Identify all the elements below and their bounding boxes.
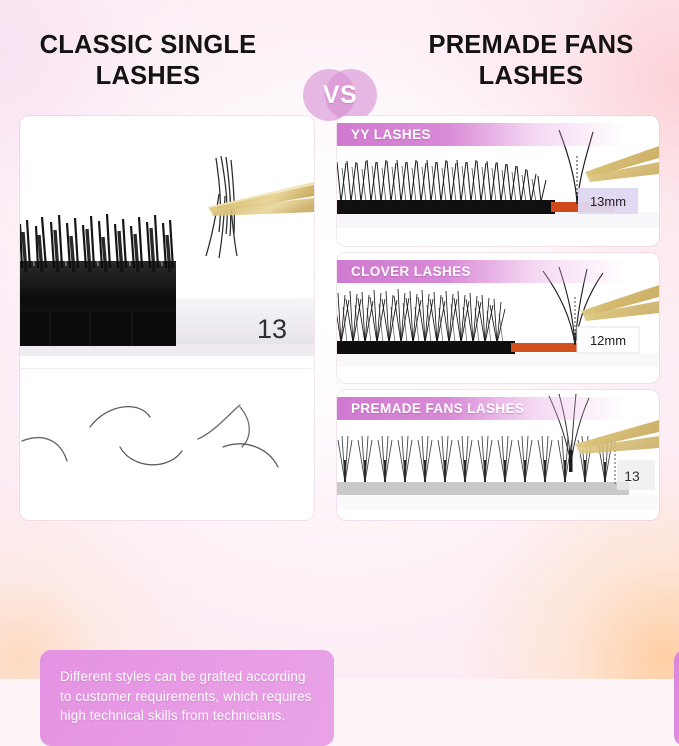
premade-size-badge: 13 xyxy=(617,460,655,490)
clover-lashes-label: CLOVER LASHES xyxy=(337,260,627,283)
vs-badge: VS xyxy=(303,69,377,121)
left-panel-title: CLASSIC SINGLE LASHES xyxy=(14,30,282,92)
right-panel-title: PREMADE FANS LASHES xyxy=(397,30,665,92)
premade-fans-card: PREMADE FANS LASHES xyxy=(337,390,659,520)
tweezers-icon xyxy=(208,182,314,216)
svg-text:13mm: 13mm xyxy=(590,194,626,209)
lash-strip-block xyxy=(20,214,176,346)
vs-label: VS xyxy=(303,69,377,121)
curved-lash-strands xyxy=(20,369,314,520)
left-size-number: 13 xyxy=(257,314,287,344)
fan-base-strip xyxy=(337,482,629,495)
comparison-infographic: CLASSIC SINGLE LASHES VS PREMADE FANS LA… xyxy=(0,0,679,679)
right-column: YY LASHES xyxy=(337,116,659,527)
svg-text:12mm: 12mm xyxy=(590,333,626,348)
left-column: 13 Different styles can be gr xyxy=(20,116,314,520)
tweezers-icon xyxy=(585,146,659,182)
clover-lashes-card: CLOVER LASHES xyxy=(337,253,659,383)
classic-lashes-photo: 13 xyxy=(20,116,314,368)
clover-size-badge: 12mm xyxy=(577,327,639,353)
premade-fans-label: PREMADE FANS LASHES xyxy=(337,397,627,420)
header: CLASSIC SINGLE LASHES VS PREMADE FANS LA… xyxy=(0,30,679,102)
left-caption: Different styles can be grafted accordin… xyxy=(40,650,334,746)
classic-lashes-illustration: 13 xyxy=(20,116,314,368)
svg-text:13: 13 xyxy=(624,468,640,484)
yy-lashes-card: YY LASHES xyxy=(337,116,659,246)
classic-lashes-card: 13 xyxy=(20,116,314,520)
yy-size-badge: 13mm xyxy=(578,188,638,214)
right-caption: Premade fans lash extensions are fashion… xyxy=(674,650,679,746)
single-lash-strands-photo xyxy=(20,368,314,520)
yy-lashes-label: YY LASHES xyxy=(337,123,627,146)
